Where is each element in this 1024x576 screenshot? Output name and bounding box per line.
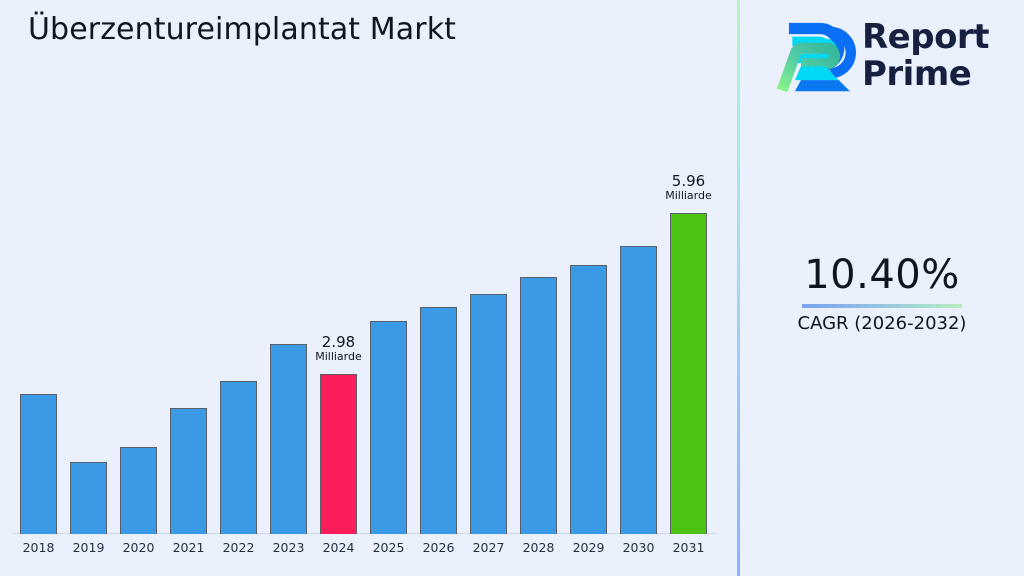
bar-2030 <box>620 246 657 534</box>
cagr-value: 10.40% <box>740 252 1024 298</box>
bar-2029 <box>570 265 607 534</box>
plot-area: 2.98Milliarde5.96Milliarde 2018201920202… <box>0 0 737 576</box>
report-prime-logo-mark <box>770 13 856 99</box>
bar-value-number-2024: 2.98 <box>294 334 384 351</box>
logo-line-1: Report <box>862 19 989 56</box>
bar-value-label-2031: 5.96Milliarde <box>644 173 734 203</box>
bar-2024 <box>320 374 357 534</box>
x-tick-2031: 2031 <box>659 540 719 555</box>
report-prime-logo: Report Prime <box>770 8 1010 104</box>
bar-2027 <box>470 294 507 534</box>
chart-page: Überzentureimplantat Markt 2.98Milliarde… <box>0 0 1024 576</box>
bar-2020 <box>120 447 157 534</box>
bar-2028 <box>520 277 557 534</box>
bar-2023 <box>270 344 307 534</box>
report-prime-wordmark: Report Prime <box>862 19 989 92</box>
bar-value-number-2031: 5.96 <box>644 173 734 190</box>
cagr-block: 10.40% CAGR (2026-2032) <box>740 252 1024 334</box>
bar-value-unit-2024: Milliarde <box>294 351 384 364</box>
cagr-caption: CAGR (2026-2032) <box>740 313 1024 334</box>
summary-panel: Report Prime 10.40% CAGR (2026-2032) <box>740 0 1024 576</box>
bar-2019 <box>70 462 107 534</box>
bar-2018 <box>20 394 57 534</box>
cagr-divider-rule <box>802 304 962 308</box>
bar-2022 <box>220 381 257 534</box>
chart-panel: Überzentureimplantat Markt 2.98Milliarde… <box>0 0 737 576</box>
bar-value-label-2024: 2.98Milliarde <box>294 334 384 364</box>
bar-2031 <box>670 213 707 534</box>
bar-value-unit-2031: Milliarde <box>644 190 734 203</box>
bar-2021 <box>170 408 207 534</box>
logo-line-2: Prime <box>862 56 989 93</box>
bar-2026 <box>420 307 457 534</box>
